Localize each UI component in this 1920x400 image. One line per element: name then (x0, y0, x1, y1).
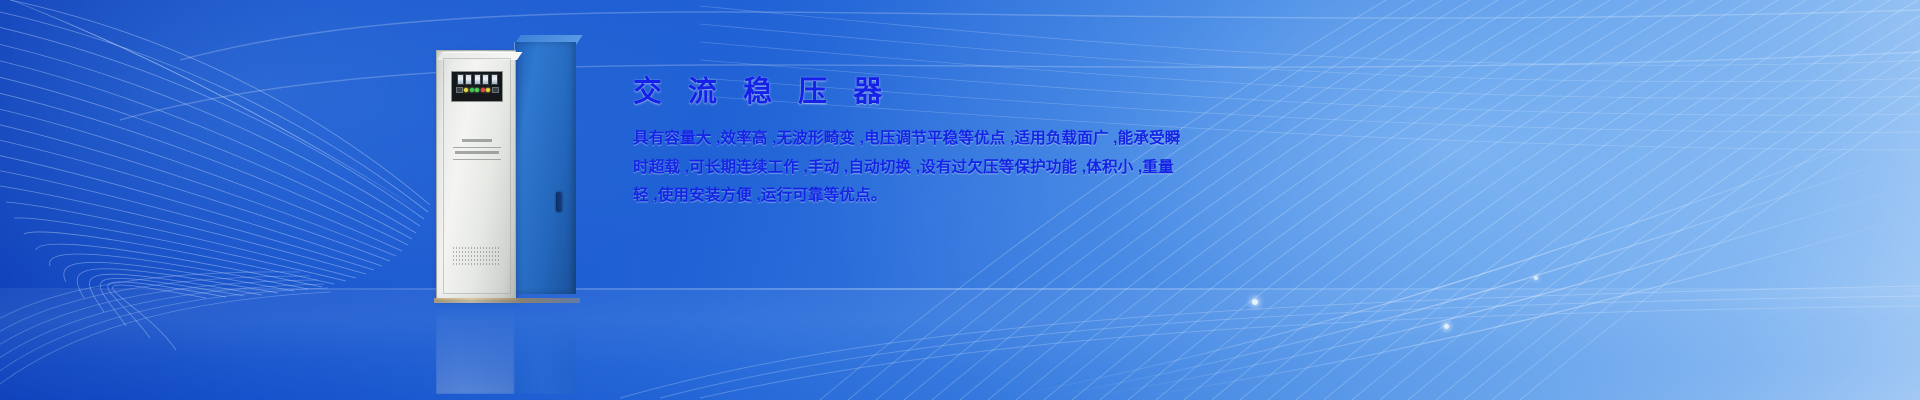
nameplate-line-model (462, 139, 492, 142)
banner-description: 具有容量大 ,效率高 ,无波形畸变 ,电压调节平稳等优点 ,适用负载面广 ,能承… (633, 125, 1423, 211)
banner-title: 交 流 稳 压 器 (633, 78, 1453, 107)
description-line-1: 具有容量大 ,效率高 ,无波形畸变 ,电压调节平稳等优点 ,适用负载面广 ,能承… (633, 125, 1423, 154)
product-nameplate (451, 139, 503, 160)
indicator-led-yellow (464, 88, 468, 92)
cabinet-base-plinth (434, 298, 580, 303)
description-line-2: 时超载 ,可长期连续工作 ,手动 ,自动切换 ,设有过欠压等保护功能 ,体积小 … (633, 154, 1423, 183)
description-line-3: 轻 ,使用安装方便 ,运行可靠等优点。 (633, 182, 1423, 211)
cabinet-door-handle (556, 192, 562, 212)
panel-switch (456, 87, 463, 93)
voltage-meter (457, 74, 464, 85)
control-panel (451, 71, 503, 102)
vent-slot (453, 247, 501, 249)
product-image-voltage-stabilizer (436, 42, 612, 310)
sparkle-dot (1534, 276, 1538, 280)
meter-row (454, 74, 500, 85)
reflection-side-panel (514, 314, 576, 394)
banner-text-block: 交 流 稳 压 器 具有容量大 ,效率高 ,无波形畸变 ,电压调节平稳等优点 ,… (633, 78, 1453, 211)
vent-slot (453, 255, 501, 257)
nameplate-divider (453, 147, 501, 148)
nameplate-divider-2 (453, 159, 501, 160)
cabinet-side-panel (514, 42, 576, 294)
reflection-front-panel (436, 308, 516, 394)
voltage-meter (491, 74, 498, 85)
cabinet-front-door (436, 50, 516, 300)
voltage-meter (474, 74, 481, 85)
indicator-led-green-2 (475, 88, 479, 92)
indicator-led-green (470, 88, 474, 92)
panel-switch-2 (492, 87, 499, 93)
sparkle-dot (1252, 299, 1258, 305)
sparkle-dot (1444, 324, 1449, 329)
indicator-led-yellow-2 (486, 88, 490, 92)
horizon-line (0, 288, 1920, 290)
ventilation-grille (453, 247, 501, 265)
product-banner: 交 流 稳 压 器 具有容量大 ,效率高 ,无波形畸变 ,电压调节平稳等优点 ,… (0, 0, 1920, 400)
nameplate-line-company (455, 151, 499, 154)
vent-slot (453, 251, 501, 253)
indicator-light-row (454, 87, 500, 93)
voltage-meter (465, 74, 472, 85)
indicator-led-red (481, 88, 485, 92)
vent-slot (453, 263, 501, 265)
voltage-meter (482, 74, 489, 85)
floor-reflection-band (0, 288, 1920, 400)
vent-slot (453, 259, 501, 261)
product-reflection (436, 308, 612, 394)
